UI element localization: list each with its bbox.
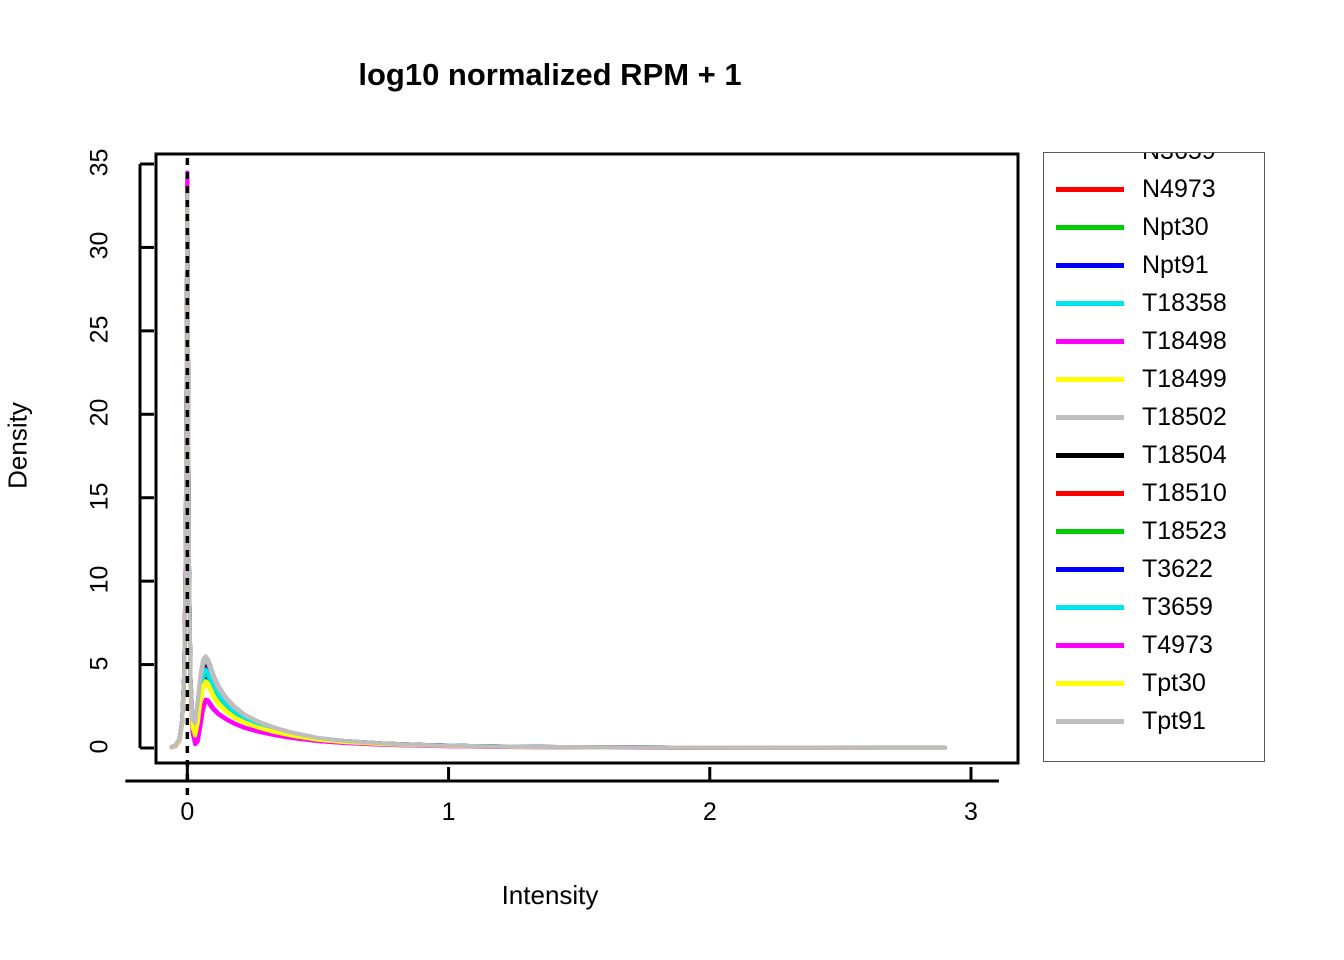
y-tick-label: 15 [86, 476, 115, 516]
legend-color-swatch [1056, 453, 1124, 458]
legend-item[interactable]: T18502 [1044, 398, 1265, 436]
legend-item-label: N3659 [1142, 152, 1216, 164]
legend-item[interactable]: T18504 [1044, 436, 1265, 474]
density-plot-figure: log10 normalized RPM + 1 Density Intensi… [0, 0, 1344, 960]
legend-color-swatch [1056, 301, 1124, 306]
density-curve [172, 177, 945, 748]
legend-item[interactable]: T3659 [1044, 588, 1265, 626]
legend-item[interactable]: T18358 [1044, 284, 1265, 322]
legend-item-label: T3622 [1142, 557, 1213, 582]
legend-item[interactable]: Tpt30 [1044, 664, 1265, 702]
density-curve [172, 187, 945, 748]
legend-item-label: T18498 [1142, 329, 1227, 354]
legend-color-swatch [1056, 339, 1124, 344]
x-tick-label: 0 [167, 798, 207, 827]
y-tick-label: 30 [86, 226, 115, 266]
legend-color-swatch [1056, 567, 1124, 572]
y-tick-label: 35 [86, 143, 115, 183]
legend-item-label: T18358 [1142, 291, 1227, 316]
legend-item[interactable]: N3659 [1044, 152, 1265, 170]
density-curve [172, 197, 945, 748]
plot-border [156, 154, 1018, 763]
legend-color-swatch [1056, 225, 1124, 230]
legend-item[interactable]: T18523 [1044, 512, 1265, 550]
density-curve [172, 197, 945, 748]
density-curve [172, 189, 945, 748]
x-tick-label: 2 [690, 798, 730, 827]
legend-item[interactable]: T18510 [1044, 474, 1265, 512]
legend-item-label: Tpt91 [1142, 709, 1206, 734]
density-curve [172, 196, 945, 748]
x-tick-label: 3 [951, 798, 991, 827]
legend-item-label: T18510 [1142, 481, 1227, 506]
legend-color-swatch [1056, 529, 1124, 534]
legend-color-swatch [1056, 415, 1124, 420]
legend-item-label: T4973 [1142, 633, 1213, 658]
legend-item-label: T18504 [1142, 443, 1227, 468]
density-curve [172, 201, 945, 748]
y-tick-label: 20 [86, 393, 115, 433]
density-curves-group [172, 172, 945, 748]
legend-color-swatch [1056, 719, 1124, 724]
y-tick-label: 0 [86, 726, 115, 766]
density-curve [172, 199, 945, 748]
legend-item-label: T18502 [1142, 405, 1227, 430]
density-curve [172, 196, 945, 748]
density-curve [172, 191, 945, 748]
x-tick-label: 1 [429, 798, 469, 827]
legend-item-label: N4973 [1142, 177, 1216, 202]
axes-group [125, 164, 999, 781]
legend-item-label: Tpt30 [1142, 671, 1206, 696]
legend-item[interactable]: T4973 [1044, 626, 1265, 664]
legend-item[interactable]: N4973 [1044, 170, 1265, 208]
density-curve [172, 172, 945, 748]
legend-item-label: T18523 [1142, 519, 1227, 544]
legend-color-swatch [1056, 681, 1124, 686]
legend-item-label: Npt30 [1142, 215, 1209, 240]
density-curve [172, 192, 945, 748]
legend-item[interactable]: Tpt91 [1044, 702, 1265, 740]
legend-color-swatch [1056, 187, 1124, 192]
legend-color-swatch [1056, 377, 1124, 382]
legend[interactable]: N3659N4973Npt30Npt91T18358T18498T18499T1… [1043, 152, 1265, 762]
legend-item[interactable]: Npt30 [1044, 208, 1265, 246]
y-tick-label: 10 [86, 560, 115, 600]
plot-frame-group [156, 154, 1018, 763]
density-curve [172, 194, 945, 748]
legend-item-label: T18499 [1142, 367, 1227, 392]
legend-color-swatch [1056, 491, 1124, 496]
legend-item-label: T3659 [1142, 595, 1213, 620]
y-tick-label: 25 [86, 309, 115, 349]
legend-item[interactable]: T18498 [1044, 322, 1265, 360]
density-curve [172, 191, 945, 748]
legend-color-swatch [1056, 263, 1124, 268]
density-curve [172, 197, 945, 748]
legend-color-swatch [1056, 605, 1124, 610]
legend-item[interactable]: T18499 [1044, 360, 1265, 398]
y-tick-label: 5 [86, 643, 115, 683]
density-curve [172, 194, 945, 748]
legend-item[interactable]: Npt91 [1044, 246, 1265, 284]
legend-item[interactable]: T3622 [1044, 550, 1265, 588]
legend-color-swatch [1056, 643, 1124, 648]
legend-item-label: Npt91 [1142, 253, 1209, 278]
